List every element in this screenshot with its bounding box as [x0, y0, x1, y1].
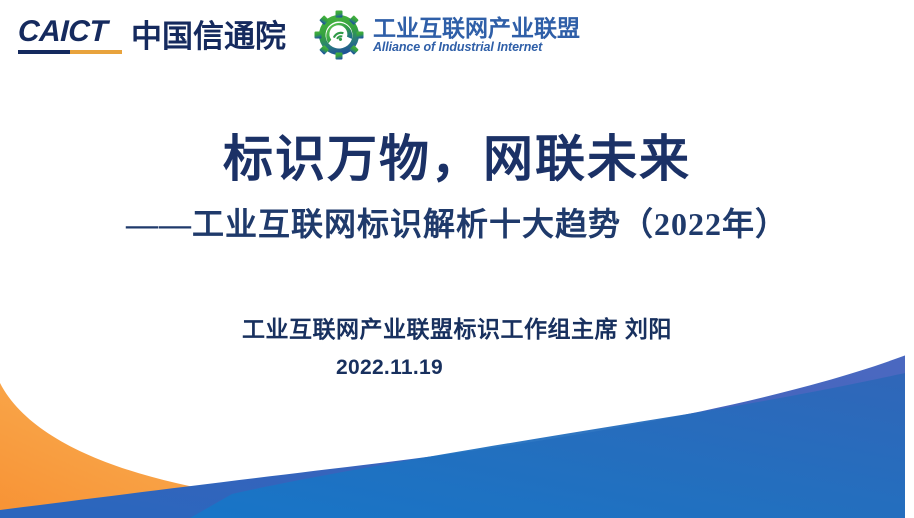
aii-text-block: 工业互联网产业联盟 Alliance of Industrial Interne…	[373, 16, 580, 54]
aii-english-name: Alliance of Industrial Internet	[373, 41, 580, 54]
caict-acronym: CAICT	[17, 17, 122, 47]
page-subtitle: ——工业互联网标识解析十大趋势（2022年）	[0, 205, 914, 243]
aii-chinese-name: 工业互联网产业联盟	[373, 16, 580, 40]
decorative-waves	[0, 0, 914, 518]
logo-band: CAICT 中国信通院	[18, 10, 580, 60]
aii-logo: 工业互联网产业联盟 Alliance of Industrial Interne…	[314, 10, 580, 60]
blue-lower-band	[190, 371, 914, 518]
caict-underline	[18, 50, 122, 54]
page-title: 标识万物，网联未来	[0, 131, 914, 187]
orange-wave	[0, 383, 300, 518]
caict-underline-blue-segment	[18, 50, 70, 54]
slide-canvas: CAICT 中国信通院	[0, 0, 914, 518]
caict-mark: CAICT	[18, 17, 122, 54]
speaker-line: 工业互联网产业联盟标识工作组主席 刘阳	[0, 310, 914, 344]
caict-chinese-name: 中国信通院	[131, 21, 286, 52]
caict-underline-orange-segment	[70, 50, 122, 54]
right-edge-margin	[905, 0, 914, 518]
presentation-date: 2022.11.19	[0, 356, 914, 380]
caict-logo: CAICT 中国信通院	[18, 17, 286, 54]
gear-icon	[314, 10, 364, 60]
